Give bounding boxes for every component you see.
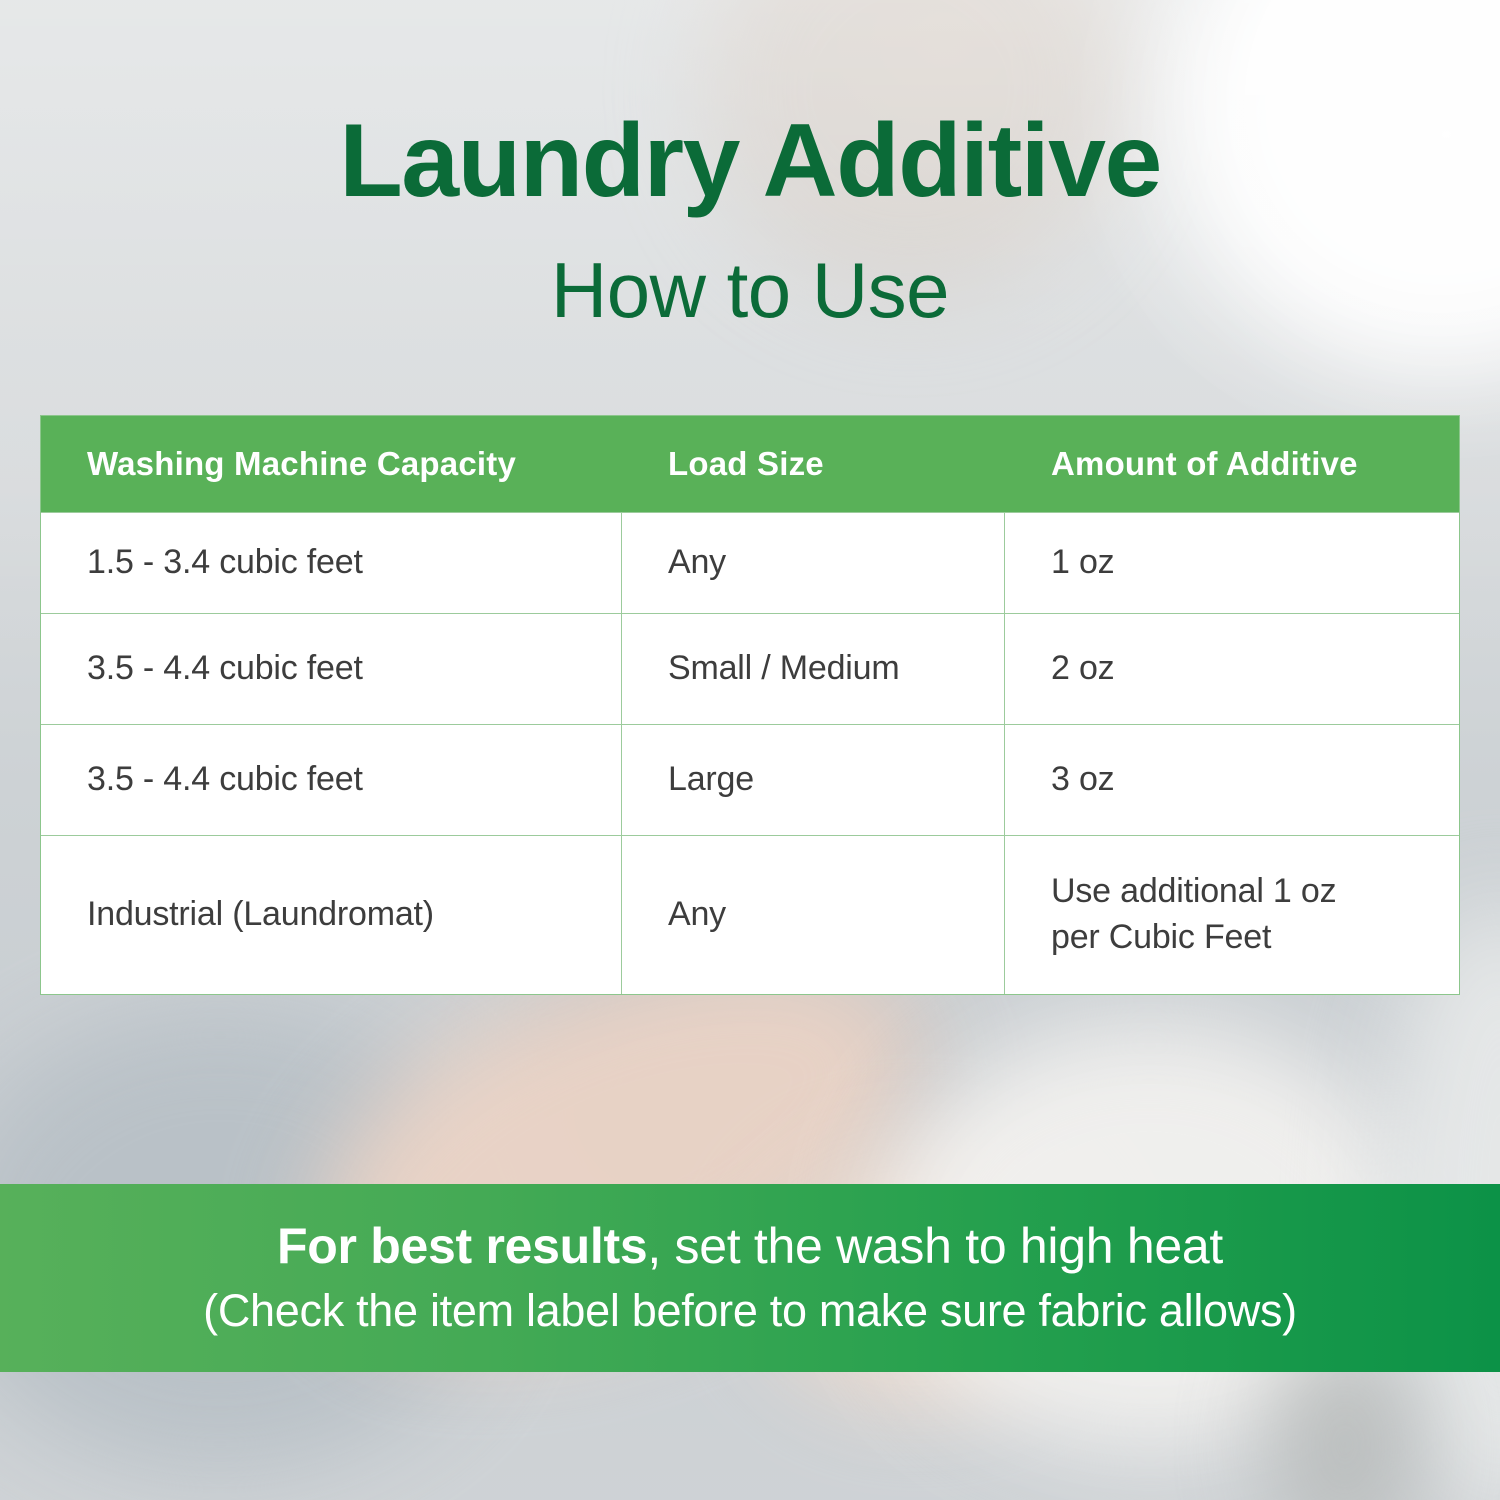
footer-primary-text: For best results, set the wash to high h… xyxy=(277,1218,1223,1274)
table-row: 3.5 - 4.4 cubic feet Small / Medium 2 oz xyxy=(41,613,1459,724)
footer-secondary-text: (Check the item label before to make sur… xyxy=(203,1284,1297,1338)
column-header-amount: Amount of Additive xyxy=(1004,445,1459,483)
table-header-row: Washing Machine Capacity Load Size Amoun… xyxy=(41,416,1459,512)
column-header-load-size: Load Size xyxy=(621,445,1004,483)
cell-capacity: 3.5 - 4.4 cubic feet xyxy=(41,614,621,724)
cell-amount: 2 oz xyxy=(1004,614,1459,724)
cell-amount-line-2: per Cubic Feet xyxy=(1051,915,1336,961)
cell-load-size: Small / Medium xyxy=(621,614,1004,724)
cell-load-size: Any xyxy=(621,513,1004,613)
cell-amount: Use additional 1 oz per Cubic Feet xyxy=(1004,836,1459,994)
table-row: 1.5 - 3.4 cubic feet Any 1 oz xyxy=(41,512,1459,613)
cell-load-size: Large xyxy=(621,725,1004,835)
table-row: 3.5 - 4.4 cubic feet Large 3 oz xyxy=(41,724,1459,835)
cell-capacity: Industrial (Laundromat) xyxy=(41,836,621,994)
footer-banner: For best results, set the wash to high h… xyxy=(0,1184,1500,1372)
cell-amount-line-1: Use additional 1 oz xyxy=(1051,869,1336,915)
table-row: Industrial (Laundromat) Any Use addition… xyxy=(41,835,1459,994)
column-header-capacity: Washing Machine Capacity xyxy=(41,445,621,483)
cell-amount: 1 oz xyxy=(1004,513,1459,613)
usage-table: Washing Machine Capacity Load Size Amoun… xyxy=(40,415,1460,995)
cell-capacity: 1.5 - 3.4 cubic feet xyxy=(41,513,621,613)
footer-rest-text: , set the wash to high heat xyxy=(647,1218,1223,1274)
footer-bold-text: For best results xyxy=(277,1218,647,1274)
cell-capacity: 3.5 - 4.4 cubic feet xyxy=(41,725,621,835)
cell-amount: 3 oz xyxy=(1004,725,1459,835)
page-title: Laundry Additive xyxy=(0,108,1500,214)
page-subtitle: How to Use xyxy=(0,250,1500,331)
cell-load-size: Any xyxy=(621,836,1004,994)
